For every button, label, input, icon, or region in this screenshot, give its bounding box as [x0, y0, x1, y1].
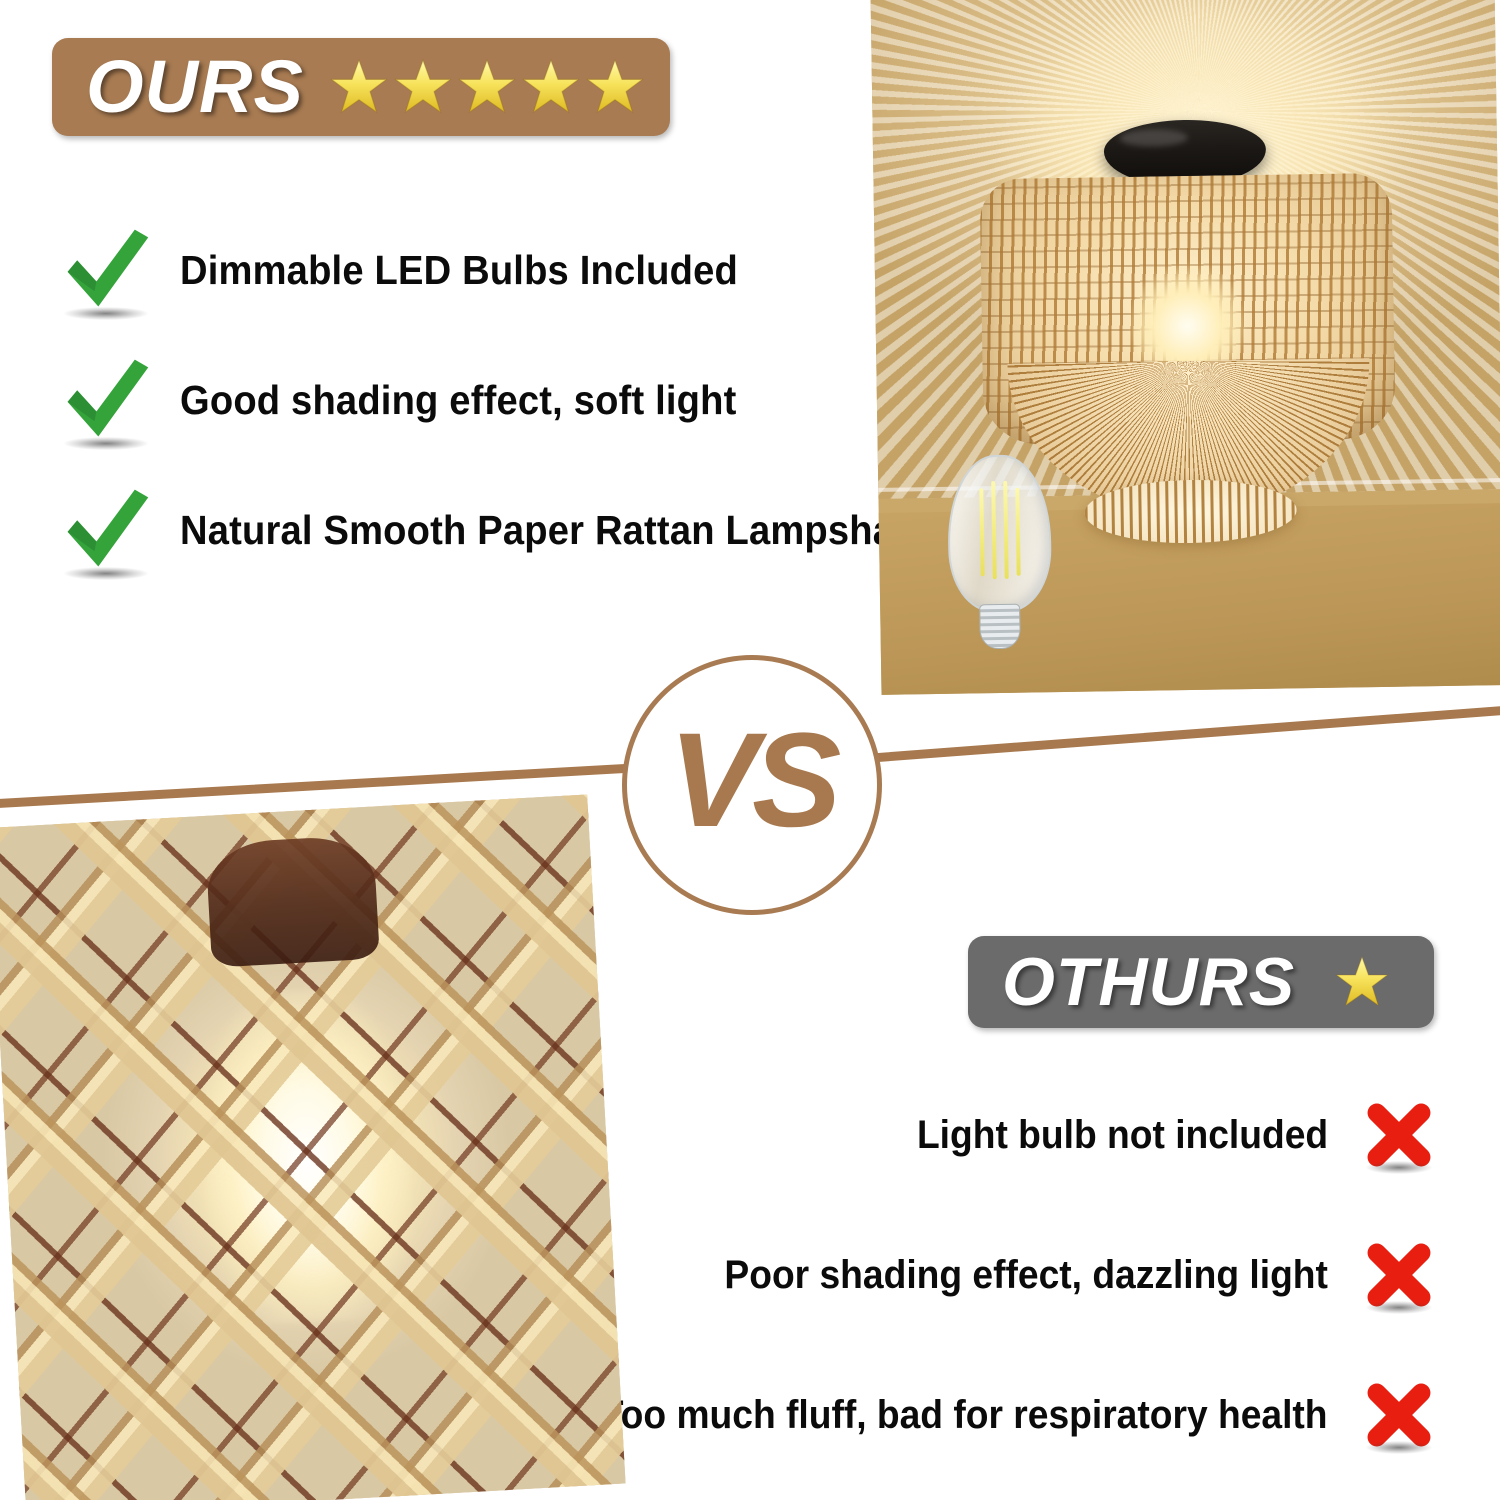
vs-badge: VS: [622, 655, 882, 915]
red-cross-icon: [1362, 1238, 1436, 1312]
ours-feature-row: Good shading effect, soft light: [58, 352, 778, 448]
rope-lampshade-scene: [0, 795, 626, 1500]
ours-feature-text: Good shading effect, soft light: [180, 377, 737, 424]
ours-feature-row: Dimmable LED Bulbs Included: [58, 222, 780, 318]
bulb-socket: [205, 834, 380, 967]
ours-feature-row: Natural Smooth Paper Rattan Lampshade: [58, 482, 996, 578]
star-icon: [458, 58, 516, 116]
othurs-con-text: Too much fluff, bad for respiratory heal…: [601, 1393, 1328, 1438]
ours-feature-text: Dimmable LED Bulbs Included: [180, 247, 738, 294]
ours-feature-text: Natural Smooth Paper Rattan Lampshade: [180, 507, 939, 554]
othurs-con-row: Poor shading effect, dazzling light: [679, 1238, 1436, 1312]
othurs-star-rating: [1335, 955, 1395, 1009]
green-check-icon: [58, 482, 154, 578]
star-icon: [1335, 955, 1389, 1009]
star-icon: [394, 58, 452, 116]
othurs-con-row: Light bulb not included: [886, 1098, 1436, 1172]
star-icon: [522, 58, 580, 116]
icon-shadow: [64, 437, 148, 450]
bulb-filament: [1015, 487, 1020, 576]
othurs-product-photo: [0, 795, 626, 1500]
vs-label: VS: [669, 714, 836, 848]
red-cross-icon: [1362, 1378, 1436, 1452]
othurs-con-text: Poor shading effect, dazzling light: [725, 1253, 1328, 1298]
othurs-con-row: Too much fluff, bad for respiratory heal…: [546, 1378, 1436, 1452]
ours-badge: OURS: [52, 38, 670, 136]
ours-product-photo: [871, 0, 1500, 695]
ours-badge-label: OURS: [86, 50, 304, 124]
icon-shadow: [64, 307, 148, 320]
ours-star-rating: [330, 58, 650, 116]
red-cross-icon: [1362, 1098, 1436, 1172]
othurs-badge: OTHURS: [968, 936, 1434, 1028]
divider-line-right: [838, 704, 1500, 765]
green-check-icon: [58, 222, 154, 318]
bulb-filament: [1003, 481, 1009, 579]
icon-shadow: [64, 567, 148, 580]
star-icon: [330, 58, 388, 116]
bulb-glass: [946, 454, 1052, 612]
edison-bulb-inset: [946, 454, 1049, 652]
bulb-screw-base: [979, 604, 1022, 650]
othurs-con-text: Light bulb not included: [917, 1113, 1328, 1158]
othurs-badge-label: OTHURS: [1002, 948, 1295, 1016]
green-check-icon: [58, 352, 154, 448]
star-icon: [586, 58, 644, 116]
bulb-filament: [991, 482, 997, 580]
icon-shadow: [1366, 1441, 1431, 1454]
comparison-infographic: OURS Dimmable LED Bulbs Included Good sh…: [0, 0, 1500, 1500]
icon-shadow: [1366, 1161, 1431, 1174]
ceiling-lamp-scene: [871, 0, 1500, 695]
bulb-filament: [979, 488, 984, 577]
icon-shadow: [1366, 1301, 1431, 1314]
